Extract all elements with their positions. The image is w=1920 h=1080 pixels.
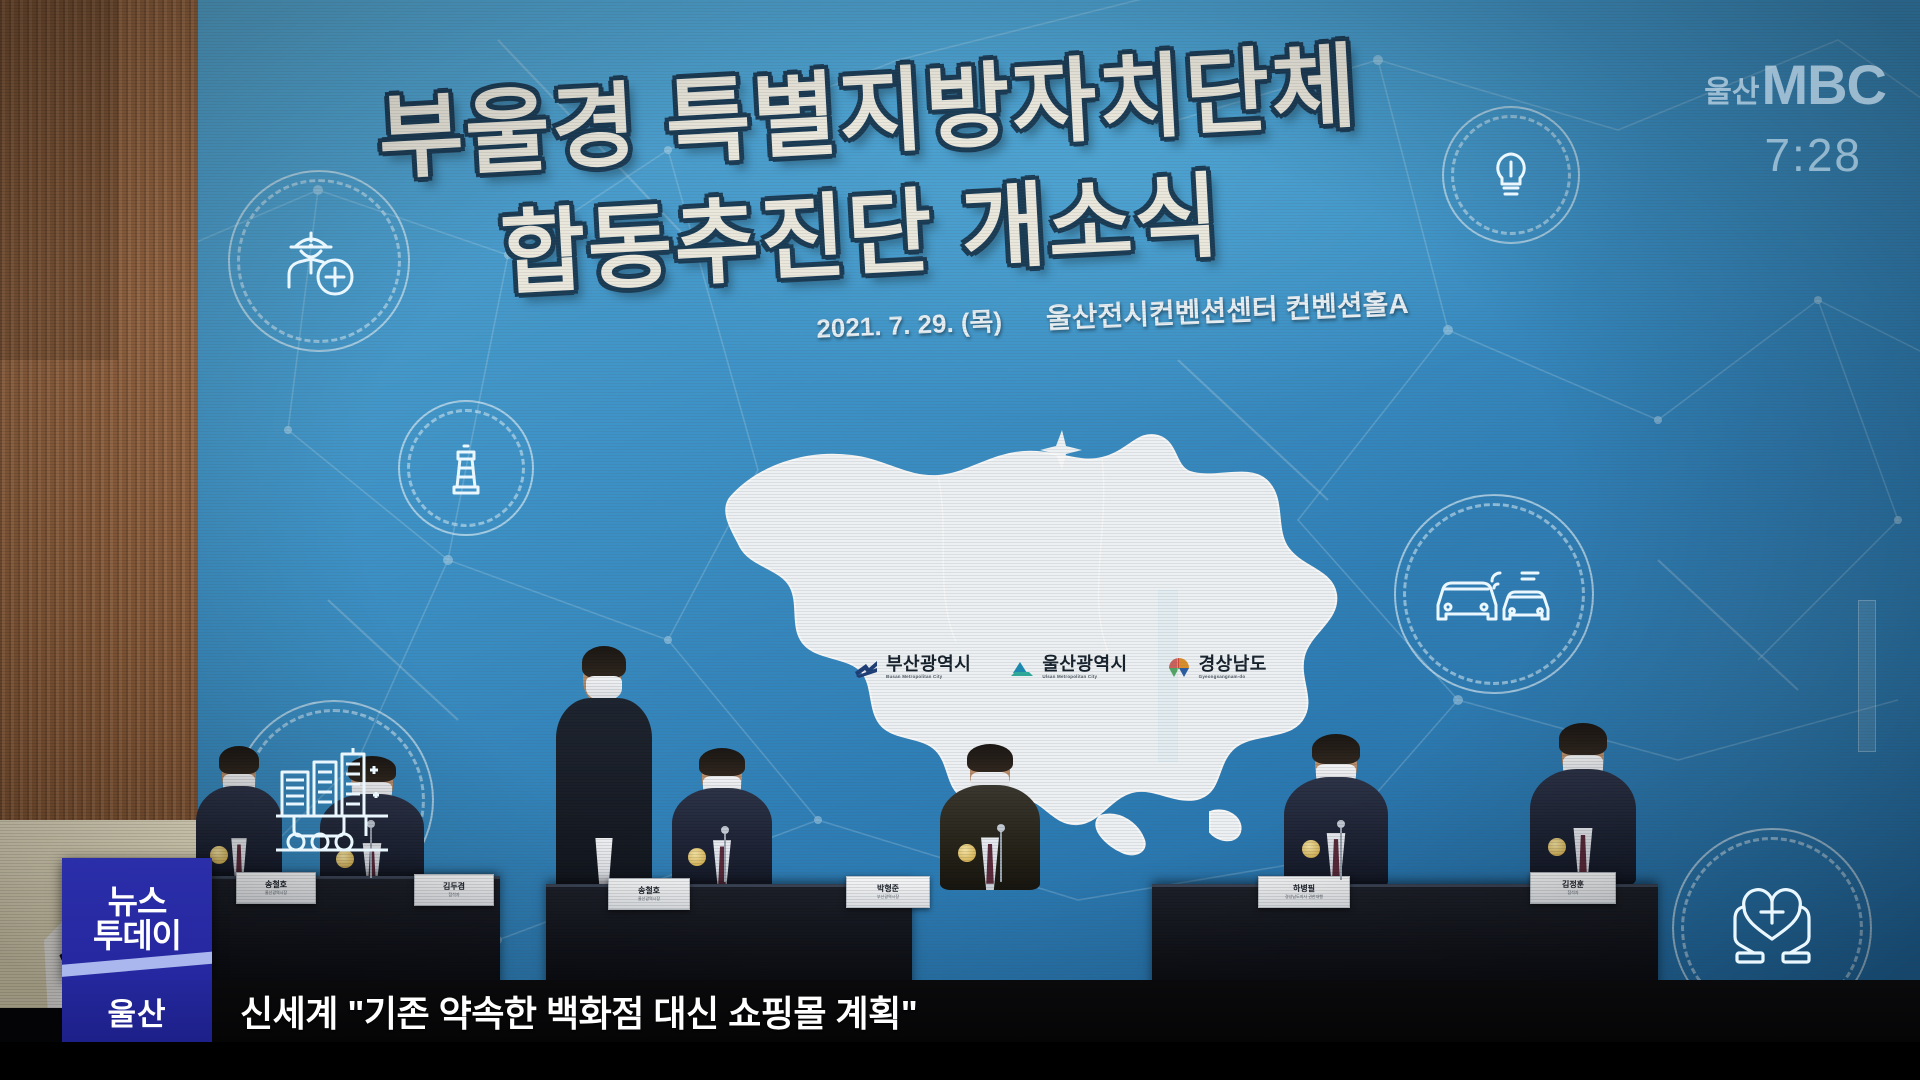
- nameplate-name: 김두겸: [443, 883, 465, 891]
- location-label-box: 울산: [62, 980, 212, 1042]
- banner-title-line2: 합동추진단 개소식: [497, 141, 1224, 313]
- event-date: 2021. 7. 29. (목): [816, 301, 1003, 346]
- logo-gyeongnam-name-en: Gyeongsangnam-do: [1199, 675, 1267, 680]
- nameplate: 김두겸 참석자: [414, 874, 494, 906]
- busan-wave-icon: [853, 655, 879, 679]
- logo-gyeongnam: 경상남도 Gyeongsangnam-do: [1166, 655, 1267, 680]
- program-logo-stripe: [62, 951, 212, 978]
- nameplate-name: 박형준: [877, 885, 899, 893]
- nameplate-role: 부산광역시장: [877, 895, 899, 899]
- suit: [940, 785, 1040, 890]
- logo-ulsan-name-ko: 울산광역시: [1042, 655, 1127, 673]
- hair: [967, 744, 1013, 772]
- hair: [219, 746, 259, 774]
- plexiglass-divider: [1158, 590, 1178, 762]
- hair: [582, 646, 626, 679]
- participant-figure: [1284, 738, 1388, 888]
- hair: [699, 748, 745, 776]
- lighthouse-icon: [398, 400, 534, 536]
- network-lines-decoration: [198, 0, 1920, 1008]
- suit: [672, 788, 772, 892]
- logo-ulsan-name-en: Ulsan Metropolitan City: [1042, 675, 1127, 680]
- nameplate: 김정훈 참석자: [1530, 872, 1616, 904]
- gyeongnam-sun-icon: [1166, 655, 1192, 679]
- suit: [556, 698, 652, 898]
- banner-headline: 부울경 특별지방자치단체 합동추진단 개소식: [198, 0, 1920, 406]
- nameplate-role: 경상남도지사 권한대행: [1285, 895, 1323, 899]
- event-venue: 울산전시컨벤션센터 컨벤션홀A: [1045, 282, 1409, 337]
- hair: [1312, 734, 1360, 764]
- banner-title-line1: 부울경 특별지방자치단체: [375, 12, 1361, 198]
- channel-watermark-main: MBC: [1761, 53, 1886, 116]
- plexiglass-divider: [1858, 600, 1876, 752]
- banner-subline: 2021. 7. 29. (목) 울산전시컨벤션센터 컨벤션홀A: [816, 273, 1617, 346]
- ulsan-mountain-icon: [1009, 655, 1035, 679]
- nameplate-role: 참석자: [1567, 891, 1578, 895]
- broadcast-screenshot: 부울경 특별지방자치단체 합동추진단 개소식 2021. 7. 29. (목) …: [0, 0, 1920, 1080]
- logo-busan-name-en: Busan Metropolitan City: [886, 675, 971, 680]
- nameplate-role: 울산광역시장: [638, 897, 660, 901]
- logo-ulsan: 울산광역시 Ulsan Metropolitan City: [1009, 655, 1127, 680]
- suit: [1284, 777, 1388, 888]
- microphone: [1340, 826, 1342, 880]
- hair: [1559, 723, 1608, 755]
- nameplate-name: 송철호: [265, 881, 287, 889]
- nameplate-role: 울산광역시장: [265, 891, 287, 895]
- nameplate-name: 김정훈: [1562, 881, 1584, 889]
- participant-figure: [672, 752, 772, 892]
- channel-watermark: 울산MBC: [1704, 52, 1886, 117]
- worker-safety-icon: [228, 170, 410, 352]
- microphone: [1000, 830, 1002, 882]
- lapel-flower: [210, 846, 228, 864]
- nameplate-name: 하병필: [1293, 885, 1315, 893]
- participant-figure: [1530, 728, 1636, 886]
- suit: [1530, 769, 1636, 886]
- nameplate: 송철호 울산광역시장: [236, 872, 316, 904]
- logo-busan: 부산광역시 Busan Metropolitan City: [853, 655, 971, 680]
- participant-figure: [940, 748, 1040, 890]
- nameplate: 송철호 울산광역시장: [608, 878, 690, 910]
- lapel-flower: [688, 848, 706, 866]
- event-backdrop: 부울경 특별지방자치단체 합동추진단 개소식 2021. 7. 29. (목) …: [198, 0, 1920, 1008]
- bulb-idea-icon: [1442, 106, 1580, 244]
- location-label: 울산: [107, 989, 166, 1034]
- organization-logos: 부산광역시 Busan Metropolitan City 울산광역시 Ulsa…: [853, 655, 1267, 680]
- news-ticker-bar: 신세계 "기존 약속한 백화점 대신 쇼핑몰 계획": [212, 980, 1920, 1042]
- program-title-line1: 뉴스: [108, 885, 167, 919]
- wood-panel-seam: [0, 0, 118, 360]
- lapel-flower: [1302, 840, 1320, 858]
- letterbox-bottom: [0, 1042, 1920, 1080]
- logo-gyeongnam-name-ko: 경상남도: [1199, 655, 1267, 673]
- lapel-flower: [958, 844, 976, 862]
- nameplate-role: 참석자: [448, 893, 459, 897]
- news-ticker-headline: 신세계 "기존 약속한 백화점 대신 쇼핑몰 계획": [240, 985, 917, 1037]
- logo-busan-name-ko: 부산광역시: [886, 655, 971, 673]
- video-frame: 부울경 특별지방자치단체 합동추진단 개소식 2021. 7. 29. (목) …: [0, 0, 1920, 1080]
- standing-host-figure: [556, 648, 652, 898]
- lapel-flower: [1548, 838, 1566, 856]
- smart-car-icon: [1394, 494, 1594, 694]
- program-logo-box: 뉴스 투데이: [62, 858, 212, 980]
- nameplate: 하병필 경상남도지사 권한대행: [1258, 876, 1350, 908]
- nameplate-name: 송철호: [638, 887, 660, 895]
- program-title-line2: 투데이: [93, 919, 181, 953]
- nameplate: 박형준 부산광역시장: [846, 876, 930, 908]
- on-air-clock: 7:28: [1764, 128, 1862, 182]
- channel-watermark-prefix: 울산: [1704, 76, 1759, 109]
- microphone: [724, 832, 726, 882]
- face-mask: [586, 676, 622, 701]
